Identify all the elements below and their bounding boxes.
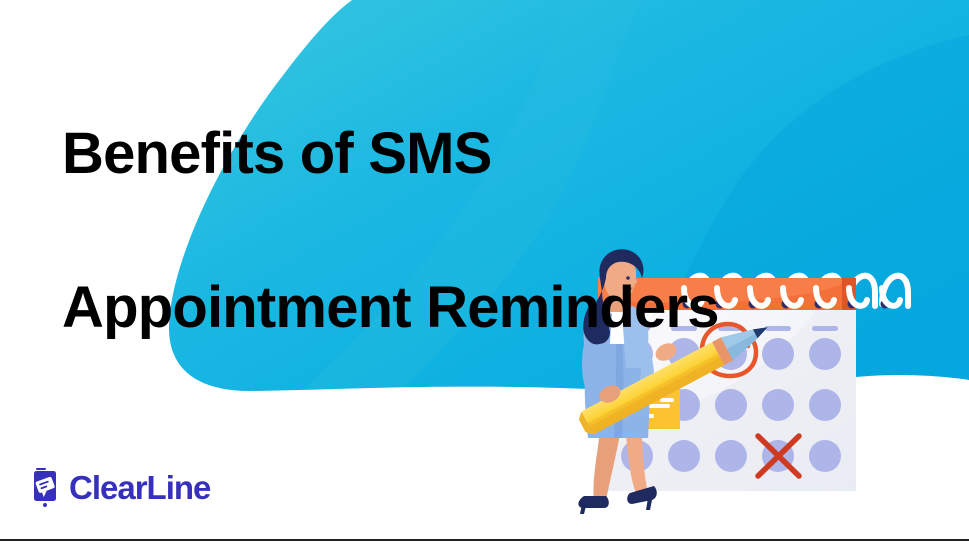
calendar-day-dot	[715, 440, 747, 472]
slide-canvas: Benefits of SMS Appointment Reminders	[0, 0, 969, 539]
slide-root: Benefits of SMS Appointment Reminders	[0, 0, 969, 546]
page-title-line-1: Benefits of SMS	[62, 115, 862, 192]
phone-message-icon	[31, 465, 61, 509]
bottom-divider	[0, 539, 969, 541]
brand-logo[interactable]: ClearLine	[31, 465, 210, 509]
page-title: Benefits of SMS Appointment Reminders	[62, 38, 862, 424]
calendar-day-dot	[668, 440, 700, 472]
brand-wordmark: ClearLine	[69, 471, 210, 504]
footer-strip	[0, 541, 969, 546]
page-title-line-2: Appointment Reminders	[62, 269, 862, 346]
calendar-day-dot	[809, 440, 841, 472]
